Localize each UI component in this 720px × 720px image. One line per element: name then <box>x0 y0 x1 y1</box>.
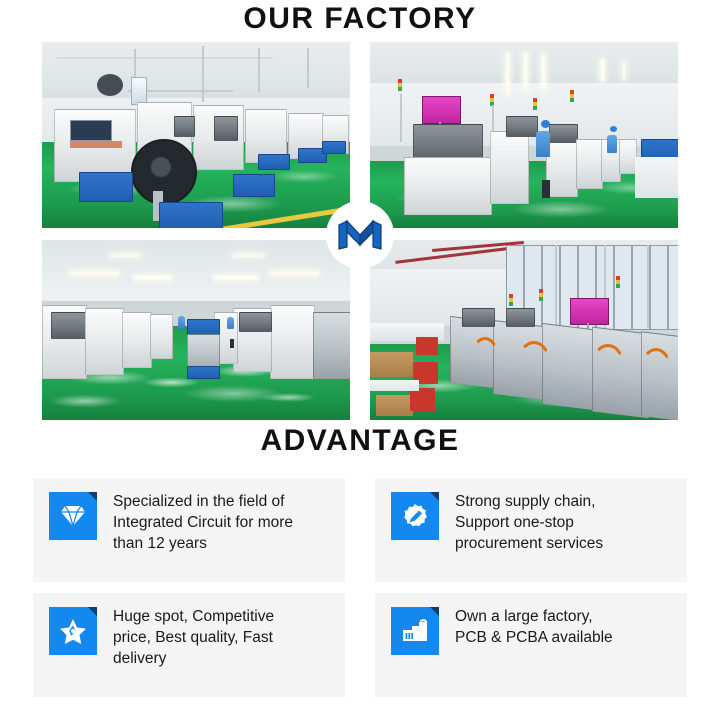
advantage-card-own-factory: Own a large factory, PCB & PCBA availabl… <box>375 593 687 697</box>
advantage-card-text: Strong supply chain, Support one-stop pr… <box>455 490 603 554</box>
plug-gear-icon <box>391 492 439 540</box>
company-logo-badge <box>326 201 394 269</box>
advantage-card-specialized: Specialized in the field of Integrated C… <box>33 478 345 582</box>
photo-scene <box>42 240 350 420</box>
photo-scene <box>42 42 350 228</box>
our-factory-heading: OUR FACTORY <box>0 2 720 36</box>
advantage-heading: ADVANTAGE <box>0 424 720 458</box>
advantage-card-text: Own a large factory, PCB & PCBA availabl… <box>455 605 613 648</box>
advantage-card-text: Specialized in the field of Integrated C… <box>113 490 293 554</box>
advantage-cards: Specialized in the field of Integrated C… <box>33 478 687 697</box>
advantage-card-huge-spot: Huge spot, Competitive price, Best quali… <box>33 593 345 697</box>
photo-bottom-left <box>42 240 350 420</box>
photo-bottom-right <box>370 240 678 420</box>
logo-m-icon <box>338 219 382 251</box>
photo-top-right <box>370 42 678 228</box>
factory-advantage-page: OUR FACTORY <box>0 0 720 720</box>
photo-top-left <box>42 42 350 228</box>
star-icon <box>49 607 97 655</box>
photo-scene <box>370 42 678 228</box>
diamond-icon <box>49 492 97 540</box>
advantage-card-supply-chain: Strong supply chain, Support one-stop pr… <box>375 478 687 582</box>
photo-scene <box>370 240 678 420</box>
factory-icon <box>391 607 439 655</box>
advantage-card-text: Huge spot, Competitive price, Best quali… <box>113 605 274 669</box>
